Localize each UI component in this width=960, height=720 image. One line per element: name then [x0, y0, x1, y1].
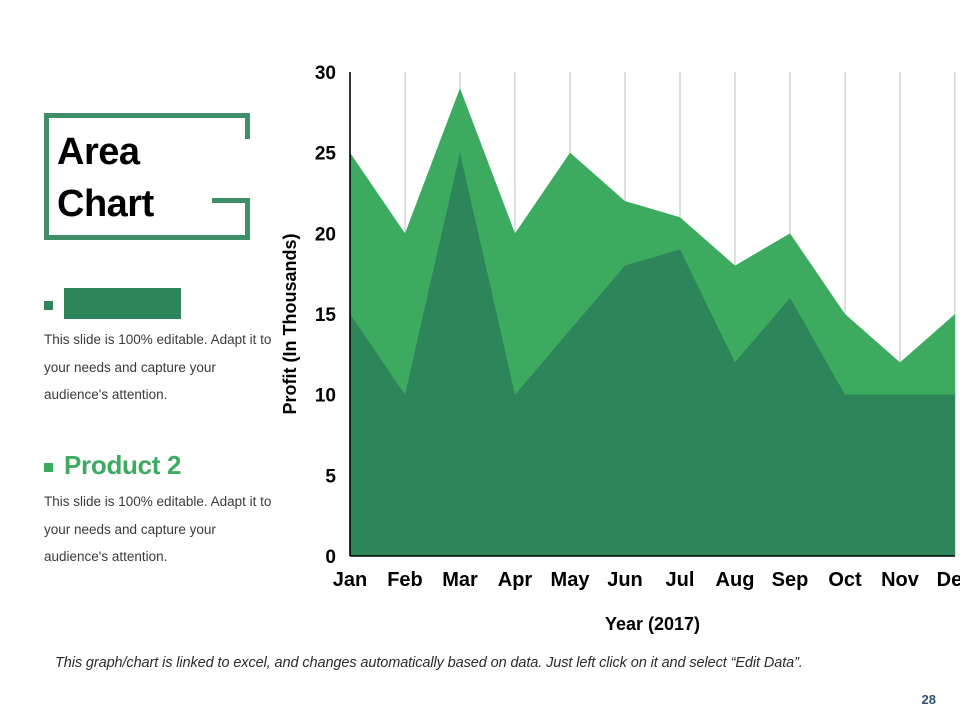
legend-item-product-2-description: This slide is 100% editable. Adapt it to…: [44, 488, 276, 571]
y-tick-label-15: 15: [315, 305, 337, 326]
left-info-panel: Area Chart Product 1 This slide is 100% …: [0, 0, 300, 720]
legend-item-product-2-label: Product 2: [64, 450, 181, 481]
legend-item-product-1-header: Product 1: [44, 288, 284, 319]
x-tick-label-jul: Jul: [666, 569, 695, 591]
page-number: 28: [922, 692, 936, 707]
x-tick-label-sep: Sep: [772, 569, 809, 591]
area-chart: 051015202530 JanFebMarAprMayJunJulAugSep…: [270, 45, 960, 645]
x-tick-label-mar: Mar: [442, 569, 478, 591]
y-tick-labels: 051015202530: [315, 63, 337, 568]
footer-note: This graph/chart is linked to excel, and…: [55, 655, 803, 671]
y-tick-label-30: 30: [315, 63, 336, 84]
x-tick-label-dec: Dec: [937, 569, 960, 591]
x-axis-title: Year (2017): [605, 614, 700, 634]
y-tick-label-10: 10: [315, 386, 336, 407]
page-title-line-1: Area: [57, 126, 272, 178]
frame-left-edge: [44, 113, 49, 240]
y-tick-label-0: 0: [325, 547, 336, 568]
frame-bottom-edge: [44, 235, 250, 240]
legend-item-product-2-header: Product 2: [44, 450, 284, 481]
legend-item-product-1-label: Product 1: [64, 288, 181, 319]
x-tick-label-nov: Nov: [881, 569, 920, 591]
y-tick-label-5: 5: [325, 466, 336, 487]
square-bullet-icon: [44, 301, 53, 310]
x-tick-label-jan: Jan: [333, 569, 367, 591]
y-tick-label-25: 25: [315, 144, 337, 165]
x-tick-labels: JanFebMarAprMayJunJulAugSepOctNovDec: [333, 569, 960, 591]
area-chart-canvas: 051015202530 JanFebMarAprMayJunJulAugSep…: [270, 45, 960, 645]
x-tick-label-jun: Jun: [607, 569, 643, 591]
x-tick-label-oct: Oct: [828, 569, 862, 591]
series-group: [350, 88, 955, 556]
x-tick-label-apr: Apr: [498, 569, 533, 591]
page-title: Area Chart: [57, 126, 272, 230]
legend-item-product-1-description: This slide is 100% editable. Adapt it to…: [44, 326, 276, 409]
x-tick-label-feb: Feb: [387, 569, 423, 591]
square-bullet-icon: [44, 463, 53, 472]
y-axis-title: Profit (In Thousands): [280, 234, 300, 415]
x-tick-label-may: May: [551, 569, 591, 591]
legend-item-product-1: Product 1 This slide is 100% editable. A…: [44, 288, 284, 409]
x-tick-label-aug: Aug: [716, 569, 755, 591]
page-title-line-2: Chart: [57, 178, 272, 230]
frame-top-edge: [44, 113, 250, 118]
y-tick-label-20: 20: [315, 224, 336, 245]
legend-item-product-2: Product 2 This slide is 100% editable. A…: [44, 450, 284, 571]
